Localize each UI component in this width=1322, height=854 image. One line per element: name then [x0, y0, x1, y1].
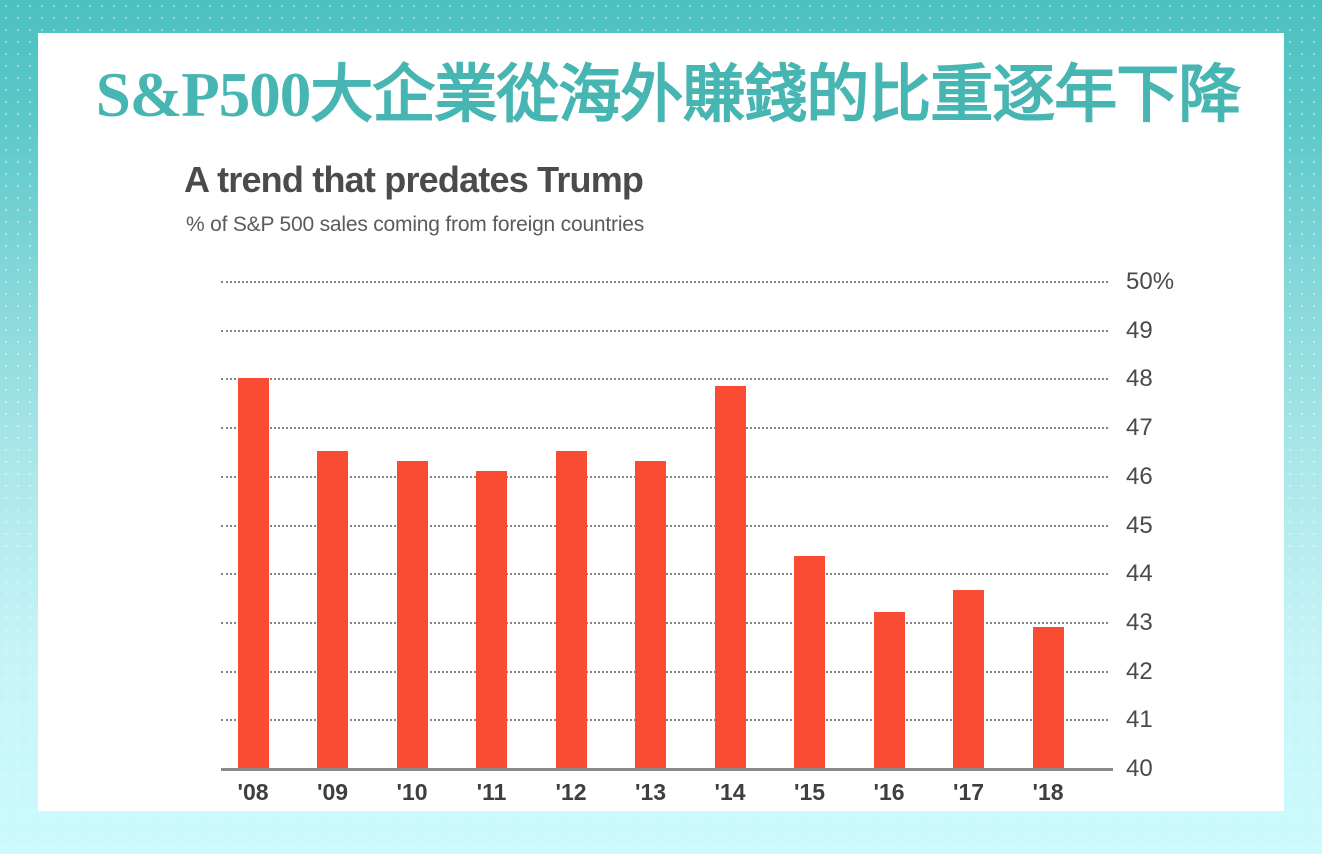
gridline [221, 378, 1108, 380]
bar-y08 [238, 378, 269, 768]
gridline [221, 427, 1108, 429]
poster-headline: S&P500大企業從海外賺錢的比重逐年下降 [50, 46, 1284, 132]
bar-y16 [874, 612, 905, 768]
x-tick-label: '09 [303, 779, 363, 806]
y-tick-label: 43 [1126, 609, 1153, 637]
gridline [221, 330, 1108, 332]
x-tick-label: '08 [223, 779, 283, 806]
bar-y13 [635, 461, 666, 768]
chart-card: S&P500大企業從海外賺錢的比重逐年下降 A trend that preda… [38, 33, 1284, 811]
x-tick-label: '10 [382, 779, 442, 806]
y-tick-label: 40 [1126, 755, 1153, 783]
y-tick-label: 42 [1126, 658, 1153, 686]
x-tick-label: '12 [541, 779, 601, 806]
y-tick-label: 50% [1126, 268, 1174, 296]
y-tick-label: 47 [1126, 414, 1153, 442]
bar-y10 [397, 461, 428, 768]
chart-subtitle: % of S&P 500 sales coming from foreign c… [186, 213, 644, 237]
bar-y17 [953, 590, 984, 768]
x-tick-label: '14 [700, 779, 760, 806]
gridline [221, 281, 1108, 283]
y-tick-label: 41 [1126, 706, 1153, 734]
y-tick-label: 49 [1126, 317, 1153, 345]
y-tick-label: 46 [1126, 463, 1153, 491]
x-tick-label: '17 [939, 779, 999, 806]
plot-region: 50%49484746454443424140 [221, 281, 1108, 768]
x-tick-label: '13 [621, 779, 681, 806]
bar-y18 [1033, 627, 1064, 768]
x-tick-label: '11 [462, 779, 522, 806]
x-tick-label: '15 [780, 779, 840, 806]
chart-area: A trend that predates Trump % of S&P 500… [38, 137, 1284, 811]
bar-y11 [476, 471, 507, 768]
bar-y14 [715, 386, 746, 768]
y-tick-label: 45 [1126, 512, 1153, 540]
x-axis-line [221, 768, 1113, 771]
bar-y12 [556, 451, 587, 768]
bar-y15 [794, 556, 825, 768]
y-tick-label: 44 [1126, 560, 1153, 588]
poster-canvas: S&P500大企業從海外賺錢的比重逐年下降 A trend that preda… [0, 0, 1322, 854]
x-tick-label: '18 [1018, 779, 1078, 806]
chart-title: A trend that predates Trump [184, 159, 643, 201]
bar-y09 [317, 451, 348, 768]
x-tick-label: '16 [859, 779, 919, 806]
y-tick-label: 48 [1126, 365, 1153, 393]
